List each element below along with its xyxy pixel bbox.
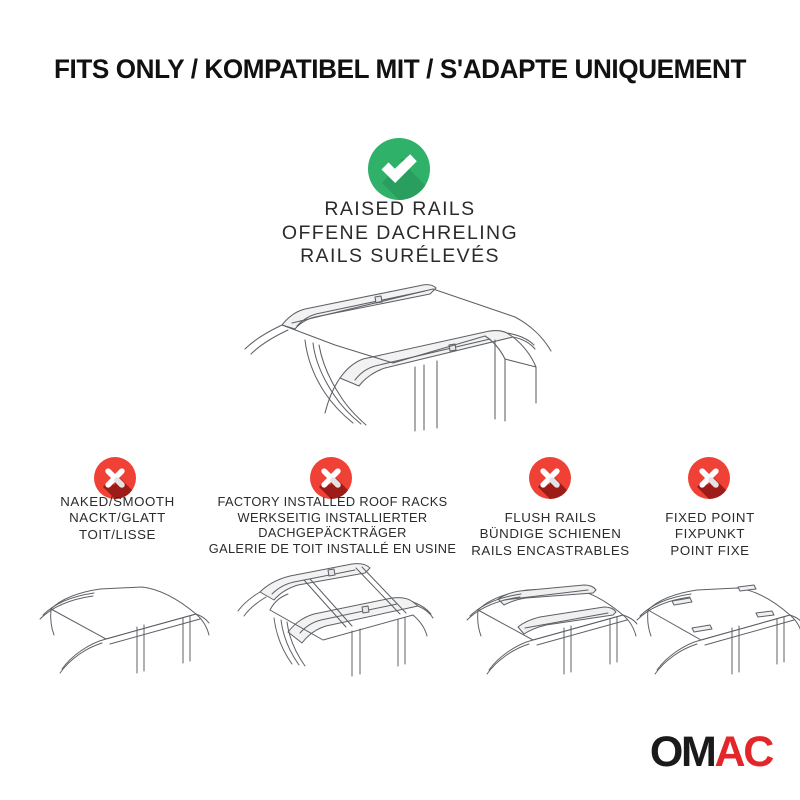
factory-racks-label-line-3: DACHGEPÄCKTRÄGER (195, 525, 470, 541)
factory-racks-label: FACTORY INSTALLED ROOF RACKS WERKSEITIG … (195, 494, 470, 557)
car-roof-fixed-points-illustration (608, 566, 800, 696)
flush-rails-label: FLUSH RAILS BÜNDIGE SCHIENEN RAILS ENCAS… (443, 510, 658, 559)
cross-mark-glyph (94, 457, 136, 499)
car-roof-with-crossbars-illustration (222, 558, 437, 698)
omac-logo-dark-part: OM (650, 728, 715, 776)
raised-rails-label-line-1: RAISED RAILS (200, 198, 600, 222)
fixed-point-label-line-1: FIXED POINT (630, 510, 790, 526)
factory-racks-label-line-1: FACTORY INSTALLED ROOF RACKS (195, 494, 470, 510)
car-roof-with-raised-rails-illustration (185, 283, 615, 448)
raised-rails-label-line-3: RAILS SURÉLEVÉS (200, 245, 600, 269)
car-roof-bare-illustration (10, 565, 210, 695)
raised-rails-label: RAISED RAILS OFFENE DACHRELING RAILS SUR… (200, 198, 600, 269)
page-title: FITS ONLY / KOMPATIBEL MIT / S'ADAPTE UN… (6, 54, 794, 85)
factory-racks-label-line-2: WERKSEITIG INSTALLIERTER (195, 510, 470, 526)
fixed-point-label-line-3: POINT FIXE (630, 543, 790, 559)
omac-logo-red-part: AC (714, 728, 772, 776)
cross-circle-icon-flush (529, 457, 571, 499)
cross-mark-glyph (310, 457, 352, 499)
raised-rails-label-line-2: OFFENE DACHRELING (200, 222, 600, 246)
flush-rails-label-line-2: BÜNDIGE SCHIENEN (443, 526, 658, 542)
cross-mark-glyph (529, 457, 571, 499)
omac-logo: OMAC (650, 731, 772, 774)
cross-circle-icon-factory (310, 457, 352, 499)
flush-rails-label-line-1: FLUSH RAILS (443, 510, 658, 526)
fixed-point-label: FIXED POINT FIXPUNKT POINT FIXE (630, 510, 790, 559)
cross-circle-icon-fixed-point (688, 457, 730, 499)
factory-racks-label-line-4: GALERIE DE TOIT INSTALLÉ EN USINE (195, 541, 470, 557)
check-circle-icon (368, 138, 430, 200)
check-mark-glyph (368, 138, 430, 200)
cross-circle-icon-naked (94, 457, 136, 499)
fixed-point-label-line-2: FIXPUNKT (630, 526, 790, 542)
flush-rails-label-line-3: RAILS ENCASTRABLES (443, 543, 658, 559)
cross-mark-glyph (688, 457, 730, 499)
